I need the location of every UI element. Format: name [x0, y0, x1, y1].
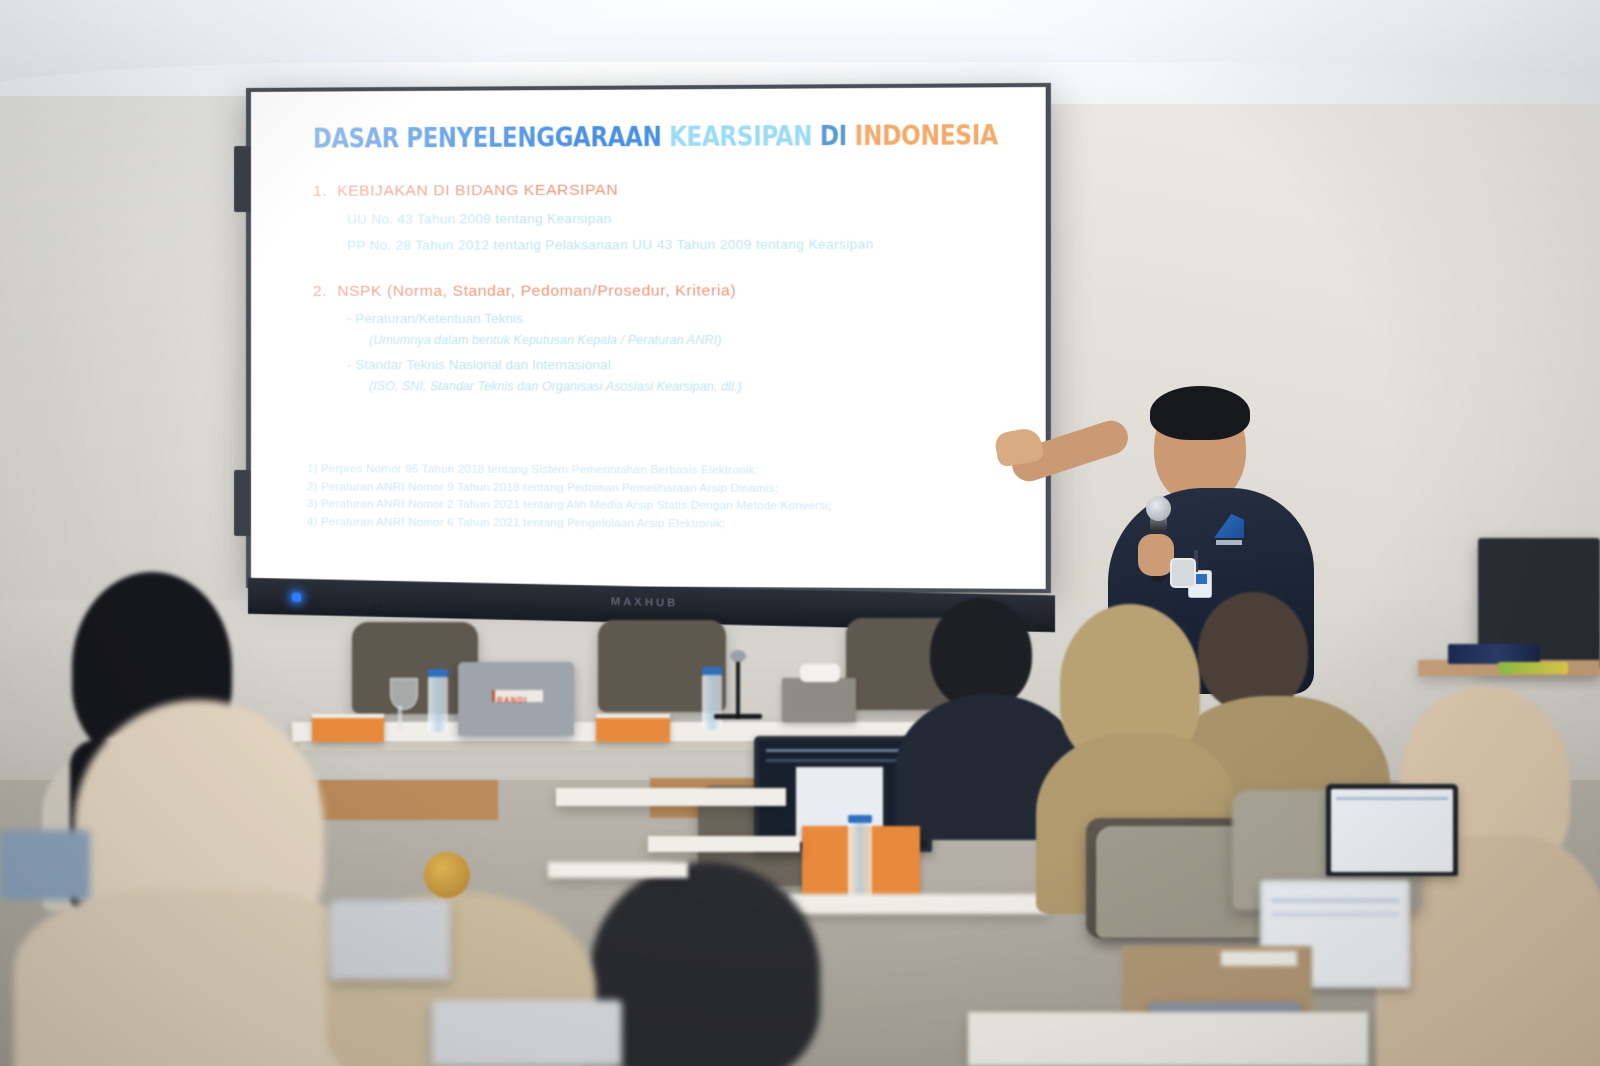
display-screen[interactable]: DASAR PENYELENGGARAAN KEARSIPAN DI INDON…: [251, 87, 1046, 589]
water-bottle-1: [428, 676, 448, 732]
laptop-far-left[interactable]: [0, 830, 90, 900]
bottle-cap: [848, 815, 872, 823]
section-2-note-1: (Umumnya dalam bentuk Keputusan Kepala /…: [369, 333, 1008, 347]
chin-dots: · ·: [368, 596, 389, 606]
title-part-3: DI: [820, 121, 855, 153]
decorative-ornament: [424, 852, 470, 898]
title-part-1: DASAR PENYELENGGARAAN: [313, 122, 669, 155]
water-glass: [390, 678, 418, 710]
section-1-heading: 1. KEBIJAKAN DI BIDANG KEARSIPAN: [313, 180, 1008, 201]
name-tent-randi: RANDI: [492, 690, 543, 702]
snack-box-blue: [1448, 644, 1540, 664]
attendee-head: [930, 598, 1032, 710]
bezel-tab-lower: [234, 470, 251, 536]
attendee-hijab-cream-right: [1392, 686, 1600, 1066]
section-2-bullet-2: - Standar Teknis Nasional dan Internasio…: [347, 357, 1008, 373]
nameplate-2: [596, 714, 670, 742]
desk-row2-mid: [648, 836, 800, 852]
footnote-4: 4) Peraturan ANRI Nomor 6 Tahun 2021 ten…: [307, 513, 1021, 534]
footnote-1: 1) Perpres Nomor 95 Tahun 2018 tentang S…: [307, 460, 1021, 480]
mic-stand-pole: [736, 656, 740, 718]
maxhub-display[interactable]: DASAR PENYELENGGARAAN KEARSIPAN DI INDON…: [246, 83, 1051, 593]
section-1-line-1: UU No. 43 Tahun 2009 tentang Kearsipan: [347, 210, 1008, 227]
section-2-note-2: (ISO, SNI, Standar Teknis dan Organisasi…: [369, 379, 1008, 394]
glass-stem: [398, 706, 402, 730]
section-2-title: NSPK (Norma, Standar, Pedoman/Prosedur, …: [337, 282, 736, 301]
screen-toolbar: [1336, 797, 1448, 800]
mic-stand-base: [714, 714, 762, 719]
microphone-head-icon: [1146, 496, 1171, 521]
title-part-4: INDONESIA: [855, 120, 998, 152]
box-shipping-label: [1221, 951, 1297, 965]
presenter-hair: [1150, 386, 1250, 440]
tissue-sheet: [800, 664, 840, 682]
presenter-mic-hand: [1138, 534, 1174, 576]
screen-toolbar: [1271, 899, 1400, 902]
bezel-tab-upper: [234, 146, 251, 212]
wristwatch: [1170, 558, 1196, 588]
title-part-2: KEARSIPAN: [669, 121, 820, 153]
section-1-number: 1.: [313, 183, 327, 201]
section-2-number: 2.: [313, 283, 327, 301]
bottle-cap: [702, 667, 722, 675]
laptop-right-rear[interactable]: [1326, 784, 1458, 876]
display-brand-label: MAXHUB: [611, 596, 679, 610]
name-tent-label: RANDI: [495, 696, 527, 705]
laptop-bottom-left[interactable]: [432, 1000, 622, 1066]
water-bottle-2: [702, 674, 722, 730]
classroom-photo-scene: DASAR PENYELENGGARAAN KEARSIPAN DI INDON…: [0, 0, 1600, 1066]
slide-section-1: 1. KEBIJAKAN DI BIDANG KEARSIPAN UU No. …: [313, 180, 1008, 253]
microphone-capsule-icon: [730, 650, 746, 662]
snack-box-green: [1498, 662, 1568, 674]
section-1-line-2: PP No. 28 Tahun 2012 tentang Pelaksanaan…: [347, 236, 1008, 253]
desk-row2-left: [556, 788, 786, 806]
desk-left-small: [548, 862, 688, 878]
slide-section-2: 2. NSPK (Norma, Standar, Pedoman/Prosedu…: [313, 282, 1008, 394]
section-1-title: KEBIJAKAN DI BIDANG KEARSIPAN: [337, 182, 618, 201]
slide-title: DASAR PENYELENGGARAAN KEARSIPAN DI INDON…: [313, 122, 959, 153]
bottle-cap: [428, 669, 448, 677]
laptop-front-left-blurred[interactable]: [330, 900, 450, 980]
laptop-screen: [1331, 789, 1453, 872]
section-2-heading: 2. NSPK (Norma, Standar, Pedoman/Prosedu…: [313, 282, 1008, 301]
screen-row: [1271, 913, 1400, 916]
section-2-bullet-1: - Peraturan/Ketentuan Teknis: [347, 310, 1008, 325]
tissue-box: [782, 678, 856, 722]
presentation-slide: DASAR PENYELENGGARAAN KEARSIPAN DI INDON…: [251, 87, 1046, 589]
desk-front-right: [968, 1012, 1368, 1066]
polo-logo-text: [1216, 540, 1242, 545]
power-led-icon: [292, 593, 301, 602]
slide-footnotes: 1) Perpres Nomor 95 Tahun 2018 tentang S…: [307, 460, 1021, 534]
